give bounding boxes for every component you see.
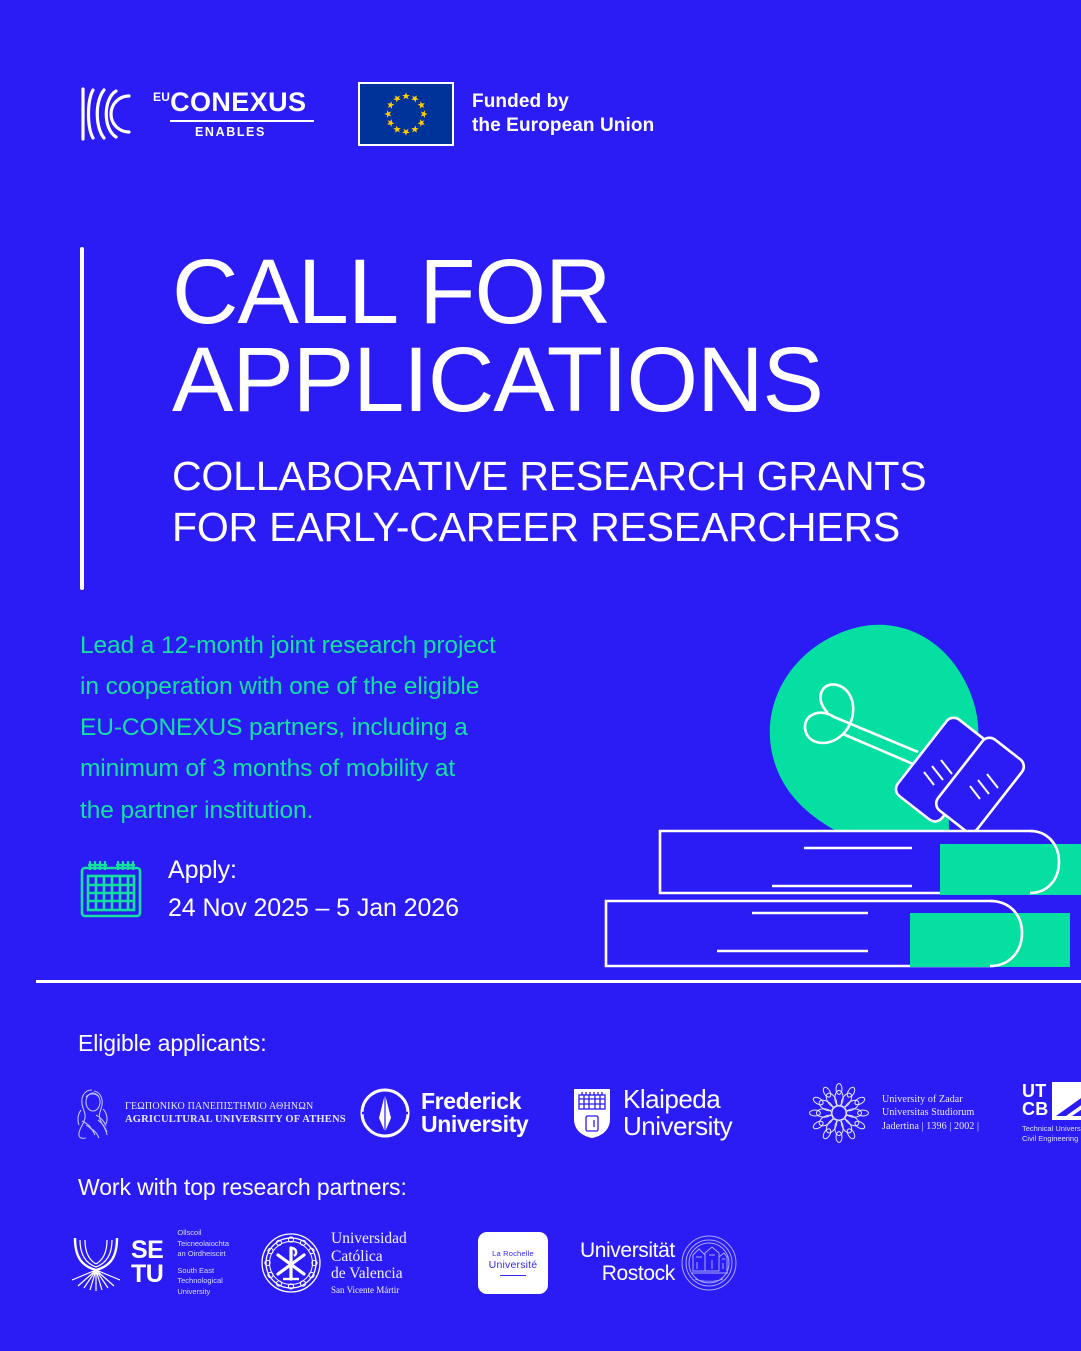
ucv-emblem-icon xyxy=(260,1232,322,1294)
logo-university-of-zadar[interactable]: University of Zadar Universitas Studioru… xyxy=(804,1078,1004,1148)
logo-universidad-catolica-de-valencia[interactable]: Universidad Católica de Valencia San Vic… xyxy=(260,1230,470,1295)
utcb-letters-bottom: CB xyxy=(1022,1101,1048,1119)
ucv-text: Universidad Católica de Valencia San Vic… xyxy=(331,1230,407,1295)
zadar-line1: University of Zadar xyxy=(882,1093,979,1107)
lead-line4: minimum of 3 months of mobility at xyxy=(80,748,640,789)
klaipeda-line2: University xyxy=(623,1113,732,1140)
frederick-circle-icon xyxy=(360,1088,410,1138)
setu-irish2: Teicneolaiochta xyxy=(177,1239,229,1250)
eu-funded-line2: the European Union xyxy=(472,115,654,136)
logo-universitat-rostock[interactable]: Universität Rostock xyxy=(580,1235,737,1291)
lead-line2: in cooperation with one of the eligible xyxy=(80,666,640,707)
logo-frederick-university[interactable]: Frederick University xyxy=(360,1088,552,1138)
athens-seal-icon xyxy=(72,1085,116,1141)
rostock-text: Universität Rostock xyxy=(580,1240,675,1285)
zadar-text: University of Zadar Universitas Studioru… xyxy=(882,1093,979,1134)
title-block: CALL FOR APPLICATIONS COLLABORATIVE RESE… xyxy=(172,248,932,554)
logo-south-east-technological-university[interactable]: SE TU Ollscoil Teicneolaiochta an Oirdhe… xyxy=(68,1228,258,1297)
setu-irish1: Ollscoil xyxy=(177,1228,229,1239)
lead-line3: EU-CONEXUS partners, including a xyxy=(80,707,640,748)
rostock-line2: Rostock xyxy=(580,1263,675,1286)
utcb-letters: UT CB xyxy=(1022,1083,1048,1118)
rostock-line1: Universität xyxy=(580,1240,675,1263)
logo-agricultural-university-of-athens[interactable]: ΓΕΩΠΟΝΙΚΟ ΠΑΝΕΠΙΣΤΗΜΙΟ ΑΘΗΝΩΝ AGRICULTUR… xyxy=(72,1085,322,1141)
klaipeda-shield-icon xyxy=(572,1087,612,1139)
setu-english2: Technological xyxy=(177,1276,229,1287)
subtitle-line1: COLLABORATIVE RESEARCH GRANTS xyxy=(172,453,926,499)
conexus-name: CONEXUS xyxy=(170,89,306,116)
setu-burst-icon xyxy=(68,1234,124,1292)
setu-subtitle: Ollscoil Teicneolaiochta an Oirdheiscirt… xyxy=(177,1228,229,1297)
setu-letters-top: SE xyxy=(131,1239,163,1263)
athens-text: ΓΕΩΠΟΝΙΚΟ ΠΑΝΕΠΙΣΤΗΜΙΟ ΑΘΗΝΩΝ AGRICULTUR… xyxy=(125,1101,346,1125)
lead-line1: Lead a 12-month joint research project xyxy=(80,625,640,666)
conexus-tagline: ENABLES xyxy=(195,125,266,139)
utcb-top: UT CB xyxy=(1022,1082,1081,1120)
utcb-sub2: Civil Engineering Bucharest xyxy=(1022,1134,1081,1144)
frederick-line1: Frederick xyxy=(421,1090,528,1113)
eu-flag-icon xyxy=(358,82,454,146)
setu-letters: SE TU xyxy=(131,1239,163,1287)
lightbulb-on-books-illustration xyxy=(600,600,1081,990)
frederick-text: Frederick University xyxy=(421,1090,528,1137)
title-line2: APPLICATIONS xyxy=(172,336,932,424)
eligible-logo-row: ΓΕΩΠΟΝΙΚΟ ΠΑΝΕΠΙΣΤΗΜΙΟ ΑΘΗΝΩΝ AGRICULTUR… xyxy=(72,1078,1032,1148)
utcb-sub1: Technical University of xyxy=(1022,1124,1081,1134)
la-rochelle-line2: Université xyxy=(489,1259,538,1271)
subtitle-line2: FOR EARLY-CAREER RESEARCHERS xyxy=(172,502,932,554)
la-rochelle-underline xyxy=(500,1275,526,1277)
logo-utcb[interactable]: UT CB Technical University of Civil Engi… xyxy=(1022,1082,1081,1144)
conexus-arcs-icon xyxy=(75,83,139,145)
athens-greek-name: ΓΕΩΠΟΝΙΚΟ ΠΑΝΕΠΙΣΤΗΜΙΟ ΑΘΗΝΩΝ xyxy=(125,1101,346,1112)
lead-line5: the partner institution. xyxy=(80,790,640,831)
title-accent-bar xyxy=(80,247,84,590)
apply-text: Apply: 24 Nov 2025 – 5 Jan 2026 xyxy=(168,852,459,927)
calendar-icon xyxy=(78,859,144,921)
la-rochelle-line1: La Rochelle xyxy=(492,1249,534,1258)
eu-funding-logo: Funded by the European Union xyxy=(358,82,654,146)
zadar-rosette-icon xyxy=(804,1078,874,1148)
zadar-line2: Universitas Studiorum xyxy=(882,1106,979,1120)
logo-la-rochelle-universite[interactable]: La Rochelle Université xyxy=(478,1232,548,1294)
setu-english1: South East xyxy=(177,1266,229,1277)
ucv-line3: de Valencia xyxy=(331,1265,407,1283)
utcb-subtitle: Technical University of Civil Engineerin… xyxy=(1022,1124,1081,1144)
frederick-line2: University xyxy=(421,1113,528,1136)
lead-paragraph: Lead a 12-month joint research project i… xyxy=(80,625,640,831)
athens-english-name: AGRICULTURAL UNIVERSITY OF ATHENS xyxy=(125,1114,346,1125)
title-line1: CALL FOR xyxy=(172,241,610,343)
page-subtitle: COLLABORATIVE RESEARCH GRANTS FOR EARLY-… xyxy=(172,451,932,554)
eligible-applicants-label: Eligible applicants: xyxy=(78,1030,267,1057)
research-partners-label: Work with top research partners: xyxy=(78,1174,407,1201)
klaipeda-line1: Klaipeda xyxy=(623,1086,732,1113)
setu-irish3: an Oirdheiscirt xyxy=(177,1249,229,1260)
conexus-underline xyxy=(170,120,314,122)
eu-conexus-logo: EU CONEXUS ENABLES xyxy=(75,83,314,145)
poster-canvas: EU CONEXUS ENABLES xyxy=(0,0,1081,1351)
rostock-seal-icon xyxy=(681,1235,737,1291)
zadar-line3: Jadertina | 1396 | 2002 | xyxy=(882,1120,979,1134)
setu-letters-bottom: TU xyxy=(131,1263,163,1287)
conexus-wordmark: EU CONEXUS ENABLES xyxy=(153,89,314,139)
utcb-diagonal-icon xyxy=(1052,1082,1081,1120)
header-logos: EU CONEXUS ENABLES xyxy=(75,82,654,146)
logo-klaipeda-university[interactable]: Klaipeda University xyxy=(572,1086,780,1140)
partner-logo-row: SE TU Ollscoil Teicneolaiochta an Oirdhe… xyxy=(68,1228,768,1297)
apply-label: Apply: xyxy=(168,852,459,890)
eu-funded-text: Funded by the European Union xyxy=(472,90,654,139)
klaipeda-text: Klaipeda University xyxy=(623,1086,732,1140)
eu-funded-line1: Funded by xyxy=(472,91,569,112)
setu-english3: University xyxy=(177,1287,229,1298)
page-title: CALL FOR APPLICATIONS xyxy=(172,248,932,425)
apply-dates: 24 Nov 2025 – 5 Jan 2026 xyxy=(168,890,459,928)
ucv-line1: Universidad xyxy=(331,1230,407,1248)
ucv-line2: Católica xyxy=(331,1248,407,1266)
conexus-eu-prefix: EU xyxy=(153,91,170,103)
section-divider xyxy=(36,980,1081,983)
ucv-line4: San Vicente Mártir xyxy=(331,1285,407,1295)
apply-block: Apply: 24 Nov 2025 – 5 Jan 2026 xyxy=(78,852,459,927)
